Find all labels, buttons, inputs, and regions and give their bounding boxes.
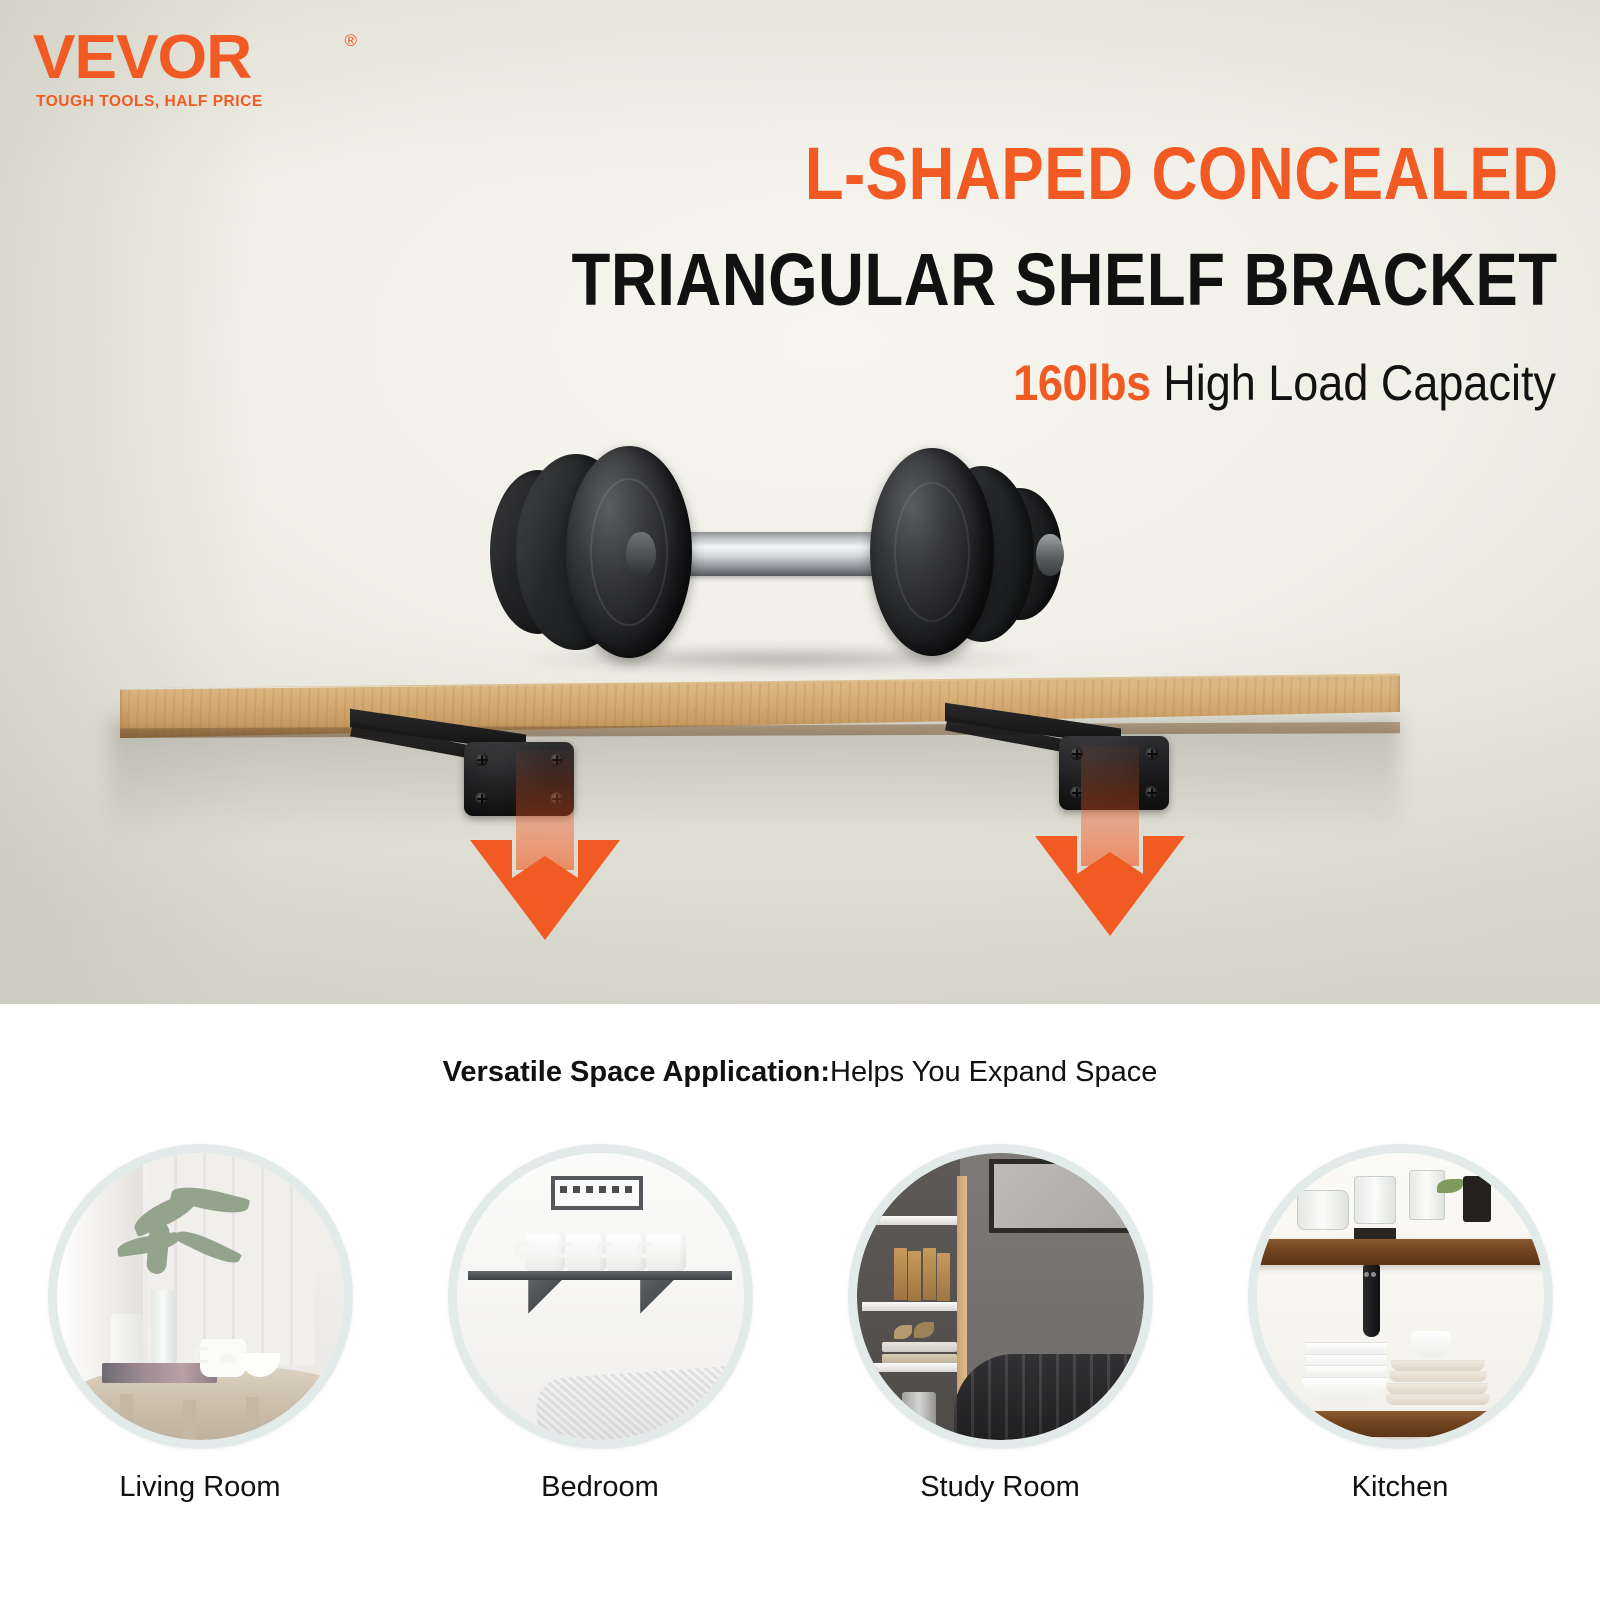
card-label: Kitchen — [1352, 1471, 1449, 1504]
scene-thumbnail-bedroom — [448, 1144, 753, 1449]
scene-thumbnail-living-room — [48, 1144, 353, 1449]
application-cards: Living Room — [0, 1144, 1600, 1504]
application-card-bedroom[interactable]: Bedroom — [430, 1144, 770, 1504]
arrow-shaft — [1081, 746, 1139, 866]
application-caption-normal: Helps You Expand Space — [830, 1056, 1157, 1088]
application-section: Versatile Space Application:Helps You Ex… — [0, 1004, 1600, 1600]
dumbbell-hub-left — [626, 532, 656, 576]
application-card-study-room[interactable]: Study Room — [830, 1144, 1170, 1504]
headline-line-2: TRIANGULAR SHELF BRACKET — [572, 243, 1558, 317]
card-label: Bedroom — [541, 1471, 659, 1504]
hero-section: VEVOR® TOUGH TOOLS, HALF PRICE L-SHAPED … — [0, 0, 1600, 1004]
arrow-shaft — [516, 750, 574, 870]
application-card-kitchen[interactable]: Kitchen — [1230, 1144, 1570, 1504]
capacity-line: 160lbs High Load Capacity — [1013, 358, 1556, 408]
scene-thumbnail-study-room — [848, 1144, 1153, 1449]
headline-line-1: L-SHAPED CONCEALED — [804, 137, 1558, 211]
dumbbell-end-cap — [1036, 534, 1064, 576]
down-arrow-icon-right — [1035, 746, 1185, 936]
registered-trademark-icon: ® — [344, 31, 357, 51]
dumbbell-illustration — [470, 440, 1090, 670]
application-caption-bold: Versatile Space Application: — [443, 1056, 830, 1088]
capacity-value: 160lbs — [1013, 355, 1150, 411]
scene-thumbnail-kitchen — [1248, 1144, 1553, 1449]
application-card-living-room[interactable]: Living Room — [30, 1144, 370, 1504]
dumbbell-ring-right — [894, 482, 970, 622]
hero-left-shade — [0, 0, 260, 1004]
capacity-label: High Load Capacity — [1151, 355, 1556, 411]
brand-tagline: TOUGH TOOLS, HALF PRICE — [36, 93, 336, 111]
down-arrow-icon-left — [470, 750, 620, 940]
card-label: Study Room — [920, 1471, 1080, 1504]
application-caption: Versatile Space Application:Helps You Ex… — [0, 1056, 1600, 1089]
brand-wordmark: VEVOR — [33, 27, 251, 89]
vevor-logo: VEVOR® TOUGH TOOLS, HALF PRICE — [36, 27, 336, 111]
wood-shelf-board — [120, 668, 1400, 746]
card-label: Living Room — [119, 1471, 280, 1504]
